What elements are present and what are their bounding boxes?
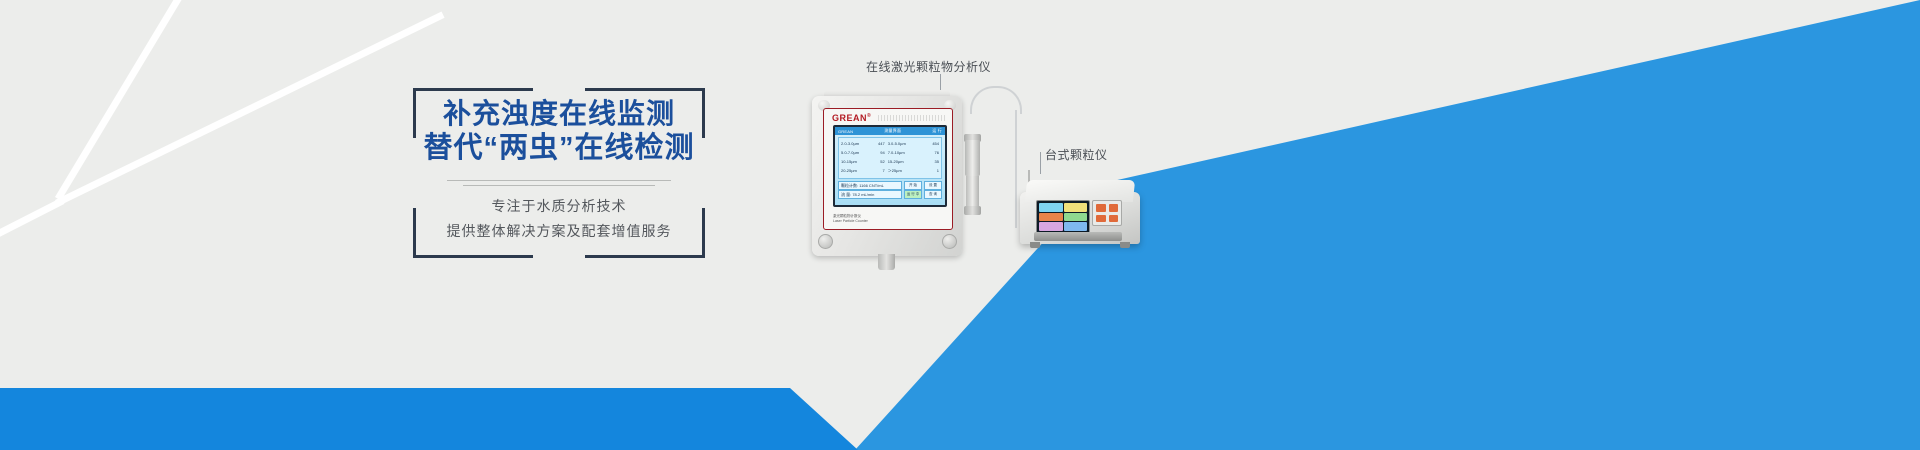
bracket-bottom-right-horizontal	[585, 255, 705, 258]
screen-control-row-1: 颗粒计数: 1166 CNT/mL 开 始 设 置	[838, 181, 942, 189]
headline-block: 补充浊度在线监测 替代“两虫”在线检测 专注于水质分析技术 提供整体解决方案及配…	[413, 88, 705, 258]
sensor-foot-fitting	[964, 206, 981, 215]
screen-data-grid: 2.0-3.0µm 447 3.0-5.0µm 454 5.0-7.0µm 94…	[838, 137, 942, 179]
desktop-keypad[interactable]	[1092, 200, 1122, 226]
brand-logo-text: GREAN	[832, 113, 867, 123]
range-b: 3.0-5.0µm	[888, 139, 920, 148]
screen-tile	[1039, 213, 1063, 222]
device-screw-bottom-left	[818, 234, 833, 249]
screen-data-row: 10-15µm 52 15-20µm 35	[841, 157, 939, 166]
divider-rule-lower	[463, 185, 655, 186]
value-a: 7	[870, 166, 888, 175]
subtitle-line-2: 提供整体解决方案及配套增值服务	[413, 219, 705, 244]
bracket-top-right-horizontal	[585, 88, 705, 91]
screen-data-row: 5.0-7.0µm 94 7.0-10µm 76	[841, 148, 939, 157]
inline-sensor-assembly	[962, 98, 984, 263]
value-b: 1	[920, 166, 939, 175]
value-a: 447	[870, 139, 888, 148]
screen-tile	[1064, 203, 1088, 212]
brand-trademark-mark: ®	[867, 113, 871, 119]
value-b: 35	[920, 157, 939, 166]
sensor-lower-tube	[966, 176, 979, 206]
promo-banner: 补充浊度在线监测 替代“两虫”在线检测 专注于水质分析技术 提供整体解决方案及配…	[0, 0, 1920, 450]
desktop-front-tray	[1034, 232, 1122, 241]
screen-control-row-2: 流 量: 78.2 mL/min 运 行 中 查 询	[838, 190, 942, 198]
keypad-button[interactable]	[1096, 215, 1106, 223]
flow-rate-field: 流 量: 78.2 mL/min	[838, 190, 902, 199]
tubing-downpipe	[1015, 110, 1017, 228]
screen-title-bar: GREAN 测量界面 运 行	[835, 127, 945, 135]
particle-count-field: 颗粒计数: 1166 CNT/mL	[838, 181, 902, 190]
value-b: 454	[920, 139, 939, 148]
headline-text-group: 补充浊度在线监测 替代“两虫”在线检测	[413, 96, 705, 166]
desktop-touch-screen[interactable]	[1036, 200, 1090, 234]
sensor-body	[965, 140, 980, 176]
screen-tile	[1039, 222, 1063, 231]
screen-tile	[1039, 203, 1063, 212]
bracket-bottom-left-horizontal	[413, 255, 533, 258]
screen-title-right: 运 行	[932, 128, 942, 134]
headline-line-2: 替代“两虫”在线检测	[413, 131, 705, 166]
callout-label-desktop: 台式颗粒仪	[1045, 146, 1108, 163]
value-a: 52	[870, 157, 888, 166]
desktop-foot-right	[1120, 242, 1130, 248]
device-screw-bottom-right	[942, 234, 957, 249]
range-b: ＞25µm	[888, 166, 920, 175]
brand-logo: GREAN®	[832, 113, 871, 123]
screen-tile	[1064, 213, 1088, 222]
screen-query-button[interactable]: 查 询	[924, 190, 942, 199]
subtitle-group: 专注于水质分析技术 提供整体解决方案及配套增值服务	[413, 194, 705, 244]
device-desktop-particle-counter	[1020, 170, 1140, 255]
range-a: 5.0-7.0µm	[841, 148, 870, 157]
callout-label-analyzer: 在线激光颗粒物分析仪	[866, 58, 991, 75]
headline-line-1: 补充浊度在线监测	[413, 96, 705, 131]
range-a: 10-15µm	[841, 157, 870, 166]
range-a: 2.0-3.0µm	[841, 139, 870, 148]
screen-settings-button[interactable]: 设 置	[924, 181, 942, 190]
divider-rule-upper	[447, 180, 671, 181]
screen-tile	[1064, 222, 1088, 231]
desktop-foot-left	[1030, 242, 1040, 248]
value-a: 94	[870, 148, 888, 157]
keypad-button[interactable]	[1109, 215, 1119, 223]
subtitle-line-1: 专注于水质分析技术	[413, 194, 705, 219]
value-b: 76	[920, 148, 939, 157]
keypad-button[interactable]	[1096, 204, 1106, 212]
screen-data-row: 20-25µm 7 ＞25µm 1	[841, 166, 939, 175]
keypad-button[interactable]	[1109, 204, 1119, 212]
device-front-panel: GREAN® GREAN 测量界面 运 行 2.0-3.0µm 447 3.0-…	[823, 108, 953, 230]
panel-hatch-decoration	[878, 115, 946, 121]
screen-title-left: GREAN	[838, 129, 853, 134]
device-footer-line-2: Laser Particle Counter	[833, 219, 868, 224]
range-b: 15-20µm	[888, 157, 920, 166]
device-lcd-screen[interactable]: GREAN 测量界面 运 行 2.0-3.0µm 447 3.0-5.0µm 4…	[833, 125, 947, 207]
range-a: 20-25µm	[841, 166, 870, 175]
device-bottom-port	[878, 254, 895, 270]
device-panel-footer-text: 激光颗粒物计数仪 Laser Particle Counter	[833, 214, 868, 224]
bracket-top-left-horizontal	[413, 88, 533, 91]
screen-start-button[interactable]: 开 始	[904, 181, 922, 190]
screen-running-status-button[interactable]: 运 行 中	[904, 190, 922, 199]
screen-data-row: 2.0-3.0µm 447 3.0-5.0µm 454	[841, 139, 939, 148]
desktop-top-cover	[1025, 180, 1135, 202]
range-b: 7.0-10µm	[888, 148, 920, 157]
screen-title-center: 测量界面	[884, 128, 901, 134]
device-online-laser-particle-analyzer: GREAN® GREAN 测量界面 运 行 2.0-3.0µm 447 3.0-…	[812, 88, 962, 263]
